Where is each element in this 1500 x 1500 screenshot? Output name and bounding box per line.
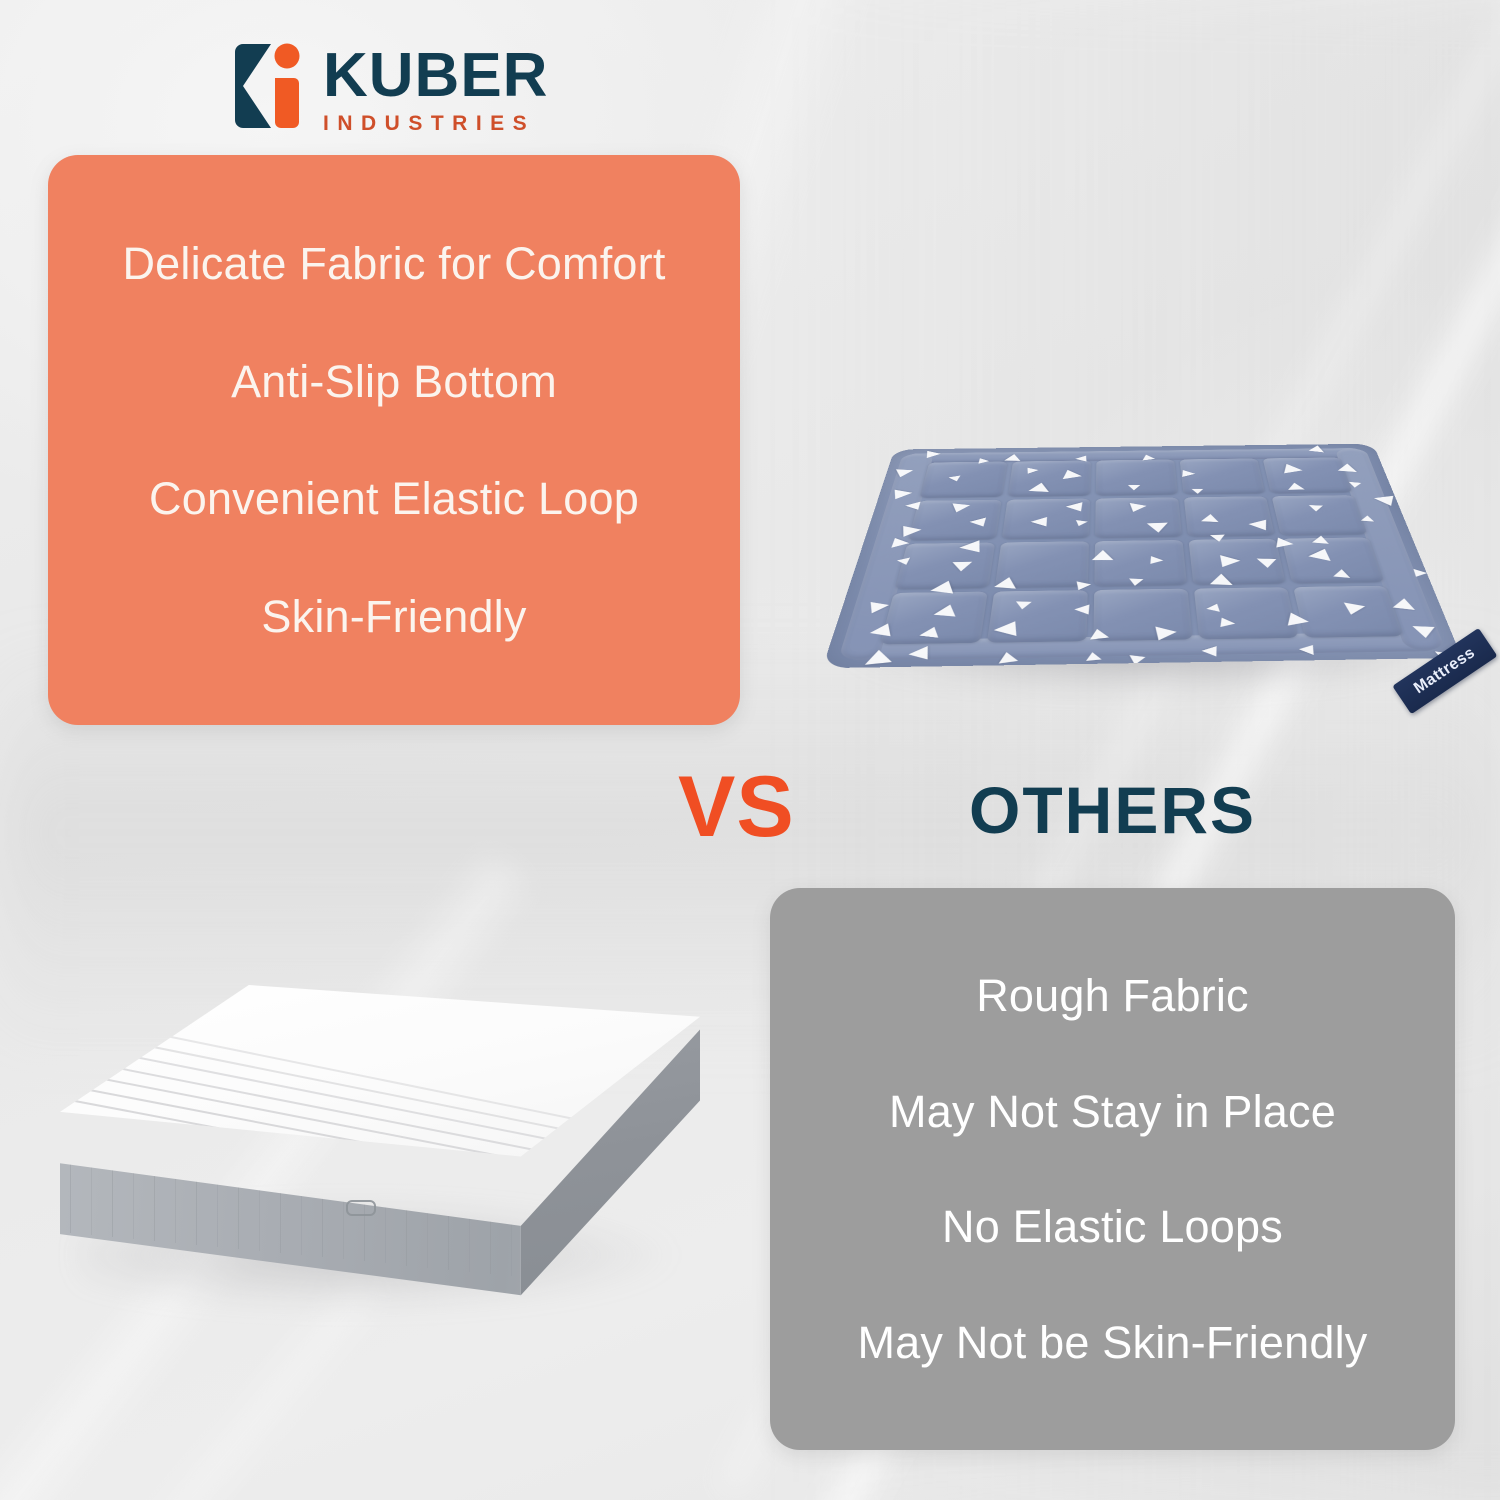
brand-wordmark: KUBER INDUSTRIES [323,43,548,136]
triangle-print [1191,489,1203,494]
triangle-print [1276,538,1294,550]
quilt-cell [1184,496,1275,537]
mattress-brand-label [346,1200,376,1216]
quilt-cell [1262,457,1352,493]
side-seam-line [322,1182,323,1257]
brand-logo: KUBER INDUSTRIES [231,42,571,138]
quilt-cell [1096,459,1178,495]
feature-item: Delicate Fabric for Comfort [122,239,665,289]
triangle-print [1084,652,1101,661]
triangle-print [1288,613,1310,629]
protector-body [822,444,1462,668]
drawback-item: May Not be Skin-Friendly [858,1318,1368,1368]
side-seam-line [343,1184,344,1259]
triangle-print [908,646,928,661]
others-drawbacks-panel: Rough Fabric May Not Stay in Place No El… [770,888,1455,1450]
brand-name: KUBER [323,43,548,109]
protector-top-surface [822,444,1462,668]
stitch-line [72,1072,602,1177]
drawback-item: Rough Fabric [976,971,1249,1021]
quilt-cell [1194,587,1298,639]
side-seam-line [175,1168,176,1243]
triangle-print [1284,464,1304,475]
triangle-print [1074,604,1090,614]
side-seam-line [217,1172,218,1247]
kuber-features-list: Delicate Fabric for Comfort Anti-Slip Bo… [48,155,740,725]
drawback-item: No Elastic Loops [942,1202,1283,1252]
side-seam-line [91,1160,92,1235]
triangle-print [865,648,892,664]
kuber-features-panel: Delicate Fabric for Comfort Anti-Slip Bo… [48,155,740,725]
triangle-print [1201,514,1219,522]
triangle-print [1129,501,1148,512]
triangle-print [1014,601,1032,609]
triangle-print [1393,597,1415,610]
drawback-item: May Not Stay in Place [889,1087,1336,1137]
triangle-print [1155,625,1178,640]
others-drawbacks-list: Rough Fabric May Not Stay in Place No El… [770,888,1455,1450]
kuber-k-i-logo-icon [231,42,303,130]
side-seam-line [301,1180,302,1255]
quilt-cell [920,461,1008,498]
quilt-cell [1008,460,1091,496]
triangle-print [1361,515,1374,522]
other-plain-mattress-image [60,985,740,1315]
quilt-cell [987,590,1088,643]
others-heading: OTHERS [969,772,1256,848]
feature-item: Anti-Slip Bottom [231,357,557,407]
triangle-print [1248,519,1266,530]
side-seam-line [238,1174,239,1249]
vs-heading: VS [678,759,795,855]
side-seam-line [133,1164,134,1239]
side-seam-line [154,1166,155,1241]
infographic-canvas: KUBER INDUSTRIES Delicate Fabric for Com… [0,0,1500,1500]
quilt-cell [1271,495,1367,536]
stitch-line [71,1058,606,1165]
feature-item: Skin-Friendly [261,592,526,642]
side-seam-line [196,1170,197,1245]
kuber-mattress-protector-image: Mattress [800,185,1490,705]
brand-tagline: INDUSTRIES [323,112,548,136]
side-seam-line [112,1162,113,1237]
feature-item: Convenient Elastic Loop [149,474,639,524]
side-seam-line [70,1158,71,1233]
stitch-line [73,1086,599,1189]
side-seam-line [280,1178,281,1253]
triangle-print [903,524,922,537]
side-seam-line [259,1176,260,1251]
triangle-print [1286,482,1305,489]
triangle-print [1257,559,1278,568]
side-seam-line [364,1186,365,1261]
